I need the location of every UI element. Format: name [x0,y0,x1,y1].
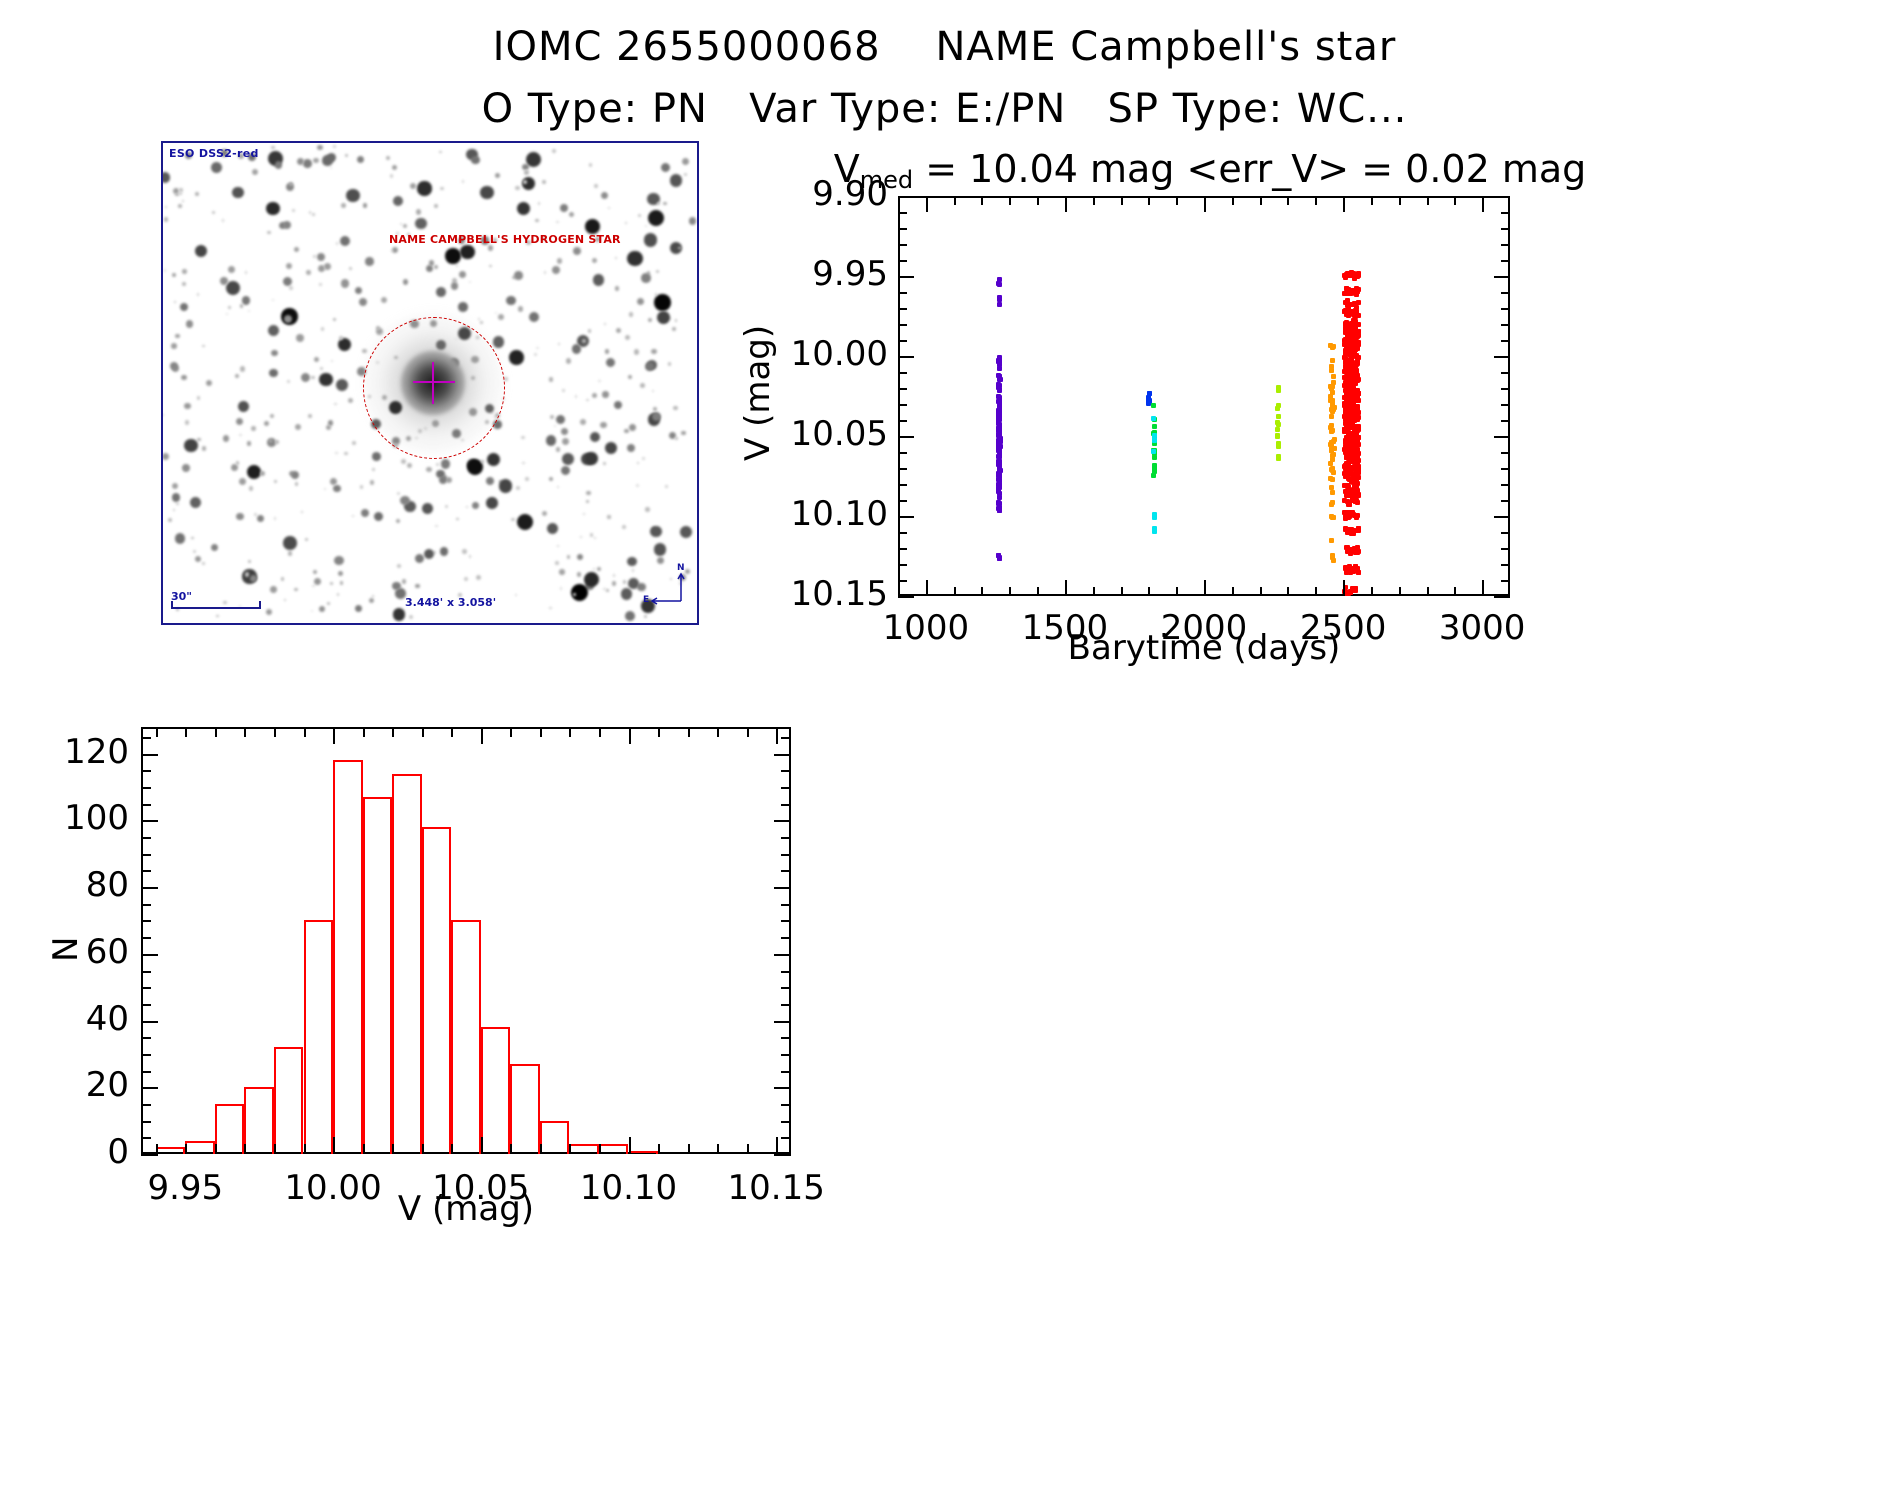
sky-star [629,424,636,431]
sky-star [206,380,212,386]
sky-star [441,459,450,468]
sky-star [226,313,228,315]
sky-star [185,420,189,424]
histogram-bar [510,1064,540,1154]
sky-star [415,584,420,589]
axis-tick [658,727,660,737]
axis-tick [781,870,791,872]
compass-rose-icon: N E [645,567,689,611]
sky-star [164,269,166,271]
sky-star [266,202,280,216]
sky-star [644,233,658,247]
sky-star [572,344,582,354]
sky-star [621,588,633,600]
axis-tick [1287,196,1289,205]
axis-tick [141,1037,151,1039]
sky-star [190,497,201,508]
sky-star [424,549,434,559]
axis-tick [141,1104,151,1106]
sky-star [552,149,556,153]
scatter-point [1330,390,1335,395]
sky-star [603,462,606,465]
sky-star [181,375,187,381]
axis-tick [774,820,791,822]
sky-star [202,562,205,565]
sky-star [319,373,333,387]
sky-star [341,203,346,208]
histogram-bar [599,1144,629,1154]
histogram-bar [304,920,334,1154]
sky-star [335,452,338,455]
axis-tick [1065,196,1067,212]
sky-star [195,556,201,562]
sky-star [562,389,564,391]
sky-star [629,312,634,317]
sky-star [556,415,565,424]
sky-star [642,457,645,460]
sky-star [657,311,670,324]
axis-tick [898,292,907,294]
sky-star [657,557,664,564]
sky-star [628,375,632,379]
sky-star [355,605,362,612]
sky-star [590,533,593,536]
sky-star [257,515,264,522]
sky-star [514,271,522,279]
axis-tick [215,1144,217,1154]
sky-star [557,486,559,488]
sky-star [515,594,517,596]
sky-star [182,200,184,202]
axis-tick [747,1144,749,1154]
sky-star [365,257,373,265]
sky-star [228,306,231,309]
sky-star [573,247,581,255]
scatter-point [1152,433,1157,438]
sky-star [345,154,347,156]
sky-star [306,270,311,275]
field-of-view-label: 3.448' x 3.058' [405,596,496,609]
scatter-point [1276,414,1281,419]
axis-tick [898,564,907,566]
sky-star [308,414,312,418]
sky-star [586,500,589,503]
scatter-point [1343,466,1348,471]
sky-star [684,173,687,176]
sky-star [401,459,406,464]
sky-star [338,571,343,576]
sky-star [462,180,465,183]
sky-star [625,611,635,621]
sky-star [340,581,344,585]
sky-star [402,579,407,584]
axis-tick [774,1021,791,1023]
sky-star [239,434,242,437]
scatter-point [1330,468,1335,473]
magnitude-histogram-plot[interactable]: 9.9510.0010.0510.1010.15 020406080100120… [141,727,791,1154]
axis-tick [781,737,791,739]
axis-tick [215,727,217,737]
sky-star [625,222,627,224]
axis-tick [781,854,791,856]
scale-bar-label: 30" [171,590,192,603]
sky-star [606,358,615,367]
sky-star [284,315,292,323]
scatter-point [1276,422,1281,427]
scatter-point [1331,558,1336,563]
axis-tick [898,468,907,470]
sky-star [327,602,331,606]
axis-tick [185,727,187,737]
sky-star [506,296,515,305]
scatter-point [1343,380,1348,385]
sky-star [434,204,438,208]
target-crosshair-horizontal [413,381,455,383]
sky-star [417,181,431,195]
axis-tick [363,1144,365,1154]
sky-star [197,396,200,399]
sky-star [682,158,689,165]
sky-star [681,431,686,436]
sky-star [309,211,311,213]
axis-tick [688,1144,690,1154]
scatter-point [1355,500,1360,505]
axis-tick [781,1137,791,1139]
sky-star [534,353,537,356]
scatter-point [1343,514,1348,519]
sky-star [287,380,290,383]
sky-star [436,470,444,478]
sky-star [588,329,592,333]
axis-tick [1501,484,1510,486]
axis-tick [1371,196,1373,205]
sky-star [348,398,353,403]
sky-star [571,584,588,601]
axis-tick [898,500,907,502]
sky-star [615,257,617,259]
sky-star [645,507,649,511]
axis-tick [1501,452,1510,454]
sky-star [320,367,324,371]
sky-star [392,582,400,590]
sky-star [415,218,427,230]
axis-tick [141,870,151,872]
sky-star [529,312,539,322]
axis-tick [141,804,151,806]
scatter-point [1348,344,1353,349]
sky-star [655,293,658,296]
axis-tick [1501,468,1510,470]
sky-star [274,480,276,482]
sky-star [336,242,339,245]
scatter-point [1354,439,1359,444]
axis-tick [244,727,246,737]
sky-star [598,380,601,383]
sky-star [486,477,494,485]
sky-star [275,161,283,169]
scatter-point [1343,439,1348,444]
sky-star [577,554,584,561]
axis-tick [898,356,914,358]
sky-star [654,543,666,555]
sky-star [333,145,336,148]
scatter-point [1354,390,1359,395]
sky-star [297,158,304,165]
sky-star [268,325,280,337]
sky-star [648,318,652,322]
axis-tick [1501,500,1510,502]
axis-tick [244,1144,246,1154]
sky-star [337,593,339,595]
sky-star [495,173,500,178]
axis-tick [156,1144,158,1154]
histogram-bar [392,774,422,1154]
histogram-bar [156,1147,186,1154]
sky-star [274,517,276,519]
sky-star [247,441,252,446]
histogram-bar [244,1087,274,1154]
sky-star [172,493,181,502]
scatter-point [1330,453,1335,458]
sky-star [638,214,641,217]
sky-star [481,460,484,463]
sky-star [314,578,321,585]
axis-tick [898,276,914,278]
scatter-point [1147,391,1152,396]
axis-tick [569,727,571,737]
header-line-1: IOMC 2655000068 NAME Campbell's star [0,16,1889,78]
sky-star [538,202,540,204]
sky-star [179,192,182,195]
scatter-point [997,282,1002,287]
sky-star [634,349,640,355]
sky-star [573,593,576,596]
scatter-point [1353,586,1358,591]
axis-tick [776,727,778,744]
sky-star [182,464,190,472]
axis-tick [954,587,956,596]
sky-star [319,606,325,612]
sky-star [336,379,348,391]
axis-tick [481,1137,483,1154]
axis-tick [141,1154,158,1156]
sky-star [586,491,590,495]
sky-star [397,564,401,568]
axis-tick [981,196,983,205]
sky-star [590,432,600,442]
sky-star [478,318,480,320]
axis-tick [363,727,365,737]
axis-tick [1260,587,1262,596]
axis-tick [1037,587,1039,596]
sky-star [456,518,459,521]
axis-tick [898,452,907,454]
axis-tick [898,516,914,518]
axis-tick [1148,196,1150,205]
sky-star [544,271,546,273]
sky-star [466,506,468,508]
sky-star [627,444,635,452]
sky-star [284,599,286,601]
sky-star [235,374,239,378]
sky-star [585,452,598,465]
sky-star [303,159,312,168]
sky-star [499,479,512,492]
sky-star [330,478,337,485]
axis-tick [898,404,907,406]
sky-star [558,343,560,345]
scatter-point [1353,460,1358,465]
axis-tick [141,937,151,939]
sky-star [657,202,660,205]
sky-star [584,572,599,587]
sky-star [567,555,571,559]
sky-star [270,586,277,593]
sky-star [601,192,608,199]
scatter-point [1152,529,1157,534]
scatter-point [1276,388,1281,393]
axis-tick [774,887,791,889]
scatter-point [1348,362,1353,367]
sky-star [317,145,322,150]
sky-star [426,467,432,473]
sky-star [525,477,529,481]
sky-star [211,162,222,173]
sky-star [184,439,197,452]
scatter-point [1331,374,1336,379]
sky-star [593,274,605,286]
sky-star [346,189,359,202]
histogram-bar [569,1144,599,1154]
target-crosshair-vertical [432,362,434,404]
sky-star [641,273,651,283]
scatter-point [1355,289,1360,294]
axis-tick [898,548,907,550]
sky-star [439,151,442,154]
axis-tick [141,904,151,906]
sky-star [416,209,422,215]
y-tick-label: 9.95 [760,254,888,294]
axis-tick [304,727,306,737]
axis-tick [1501,388,1510,390]
scatter-point [997,366,1002,371]
sky-star [555,561,559,565]
sky-star [400,496,409,505]
sky-star [557,545,559,547]
sky-star [360,485,364,489]
axis-tick [451,1144,453,1154]
scatter-point [996,473,1001,478]
sky-star [549,377,553,381]
sky-star [524,170,529,175]
scatter-point [1330,490,1335,495]
scatter-point [1343,340,1348,345]
axis-tick [1501,420,1510,422]
scatter-point [1352,546,1357,551]
sky-star [644,615,647,618]
sky-star [486,497,498,509]
sky-star [240,304,244,308]
scatter-point [1330,409,1335,414]
histogram-bar [422,827,452,1154]
sky-star [197,438,200,441]
axis-tick [1454,196,1456,205]
sky-star [569,212,574,217]
y-tick-label: 20 [31,1065,129,1105]
axis-tick [333,727,335,744]
sky-star [645,225,648,228]
lightcurve-scatter-plot[interactable]: 10001500200025003000 9.909.9510.0010.051… [898,196,1510,596]
sky-star [245,572,250,577]
sky-star [415,554,424,563]
axis-tick [658,1144,660,1154]
sky-star [164,217,168,221]
sky-star [557,258,563,264]
sky-star [471,156,480,165]
sky-star [289,182,293,186]
sky-star [202,446,206,450]
sky-star [536,347,538,349]
sky-star [535,219,538,222]
sky-star [559,569,564,574]
scatter-point [996,506,1001,511]
axis-tick [781,1037,791,1039]
axis-tick [1093,587,1095,596]
sky-star [436,287,446,297]
scatter-point [1151,416,1156,421]
axis-tick [540,727,542,737]
axis-tick [1494,516,1510,518]
axis-tick [141,1121,151,1123]
sky-star [517,514,533,530]
sky-star [245,271,247,273]
sky-star [487,453,500,466]
sky-star [552,266,560,274]
scatter-point [1354,361,1359,366]
sky-star [326,425,331,430]
scatter-point [996,500,1001,505]
sky-star [652,412,661,421]
scatter-point [997,465,1002,470]
sky-star [480,186,493,199]
sky-star [648,210,664,226]
sky-star [542,180,547,185]
sky-star [334,556,343,565]
axis-tick [926,580,928,596]
sky-star [292,209,296,213]
axis-tick [717,1144,719,1154]
scatter-point [1348,550,1353,555]
sky-star [311,376,314,379]
axis-tick [599,727,601,737]
sky-star [172,483,178,489]
sky-image-panel[interactable]: ESO DSS2-red NAME CAMPBELL'S HYDROGEN ST… [161,141,699,625]
sky-star [580,536,582,538]
y-tick-label: 100 [31,798,129,838]
sky-star [580,419,586,425]
axis-tick [141,1137,151,1139]
sky-star [294,588,297,591]
sky-star [675,437,678,440]
scatter-point [1350,401,1355,406]
axis-tick [629,1137,631,1154]
axis-tick [141,987,151,989]
scatter-point [1330,398,1335,403]
scatter-point [1151,403,1156,408]
scatter-point [1350,302,1355,307]
scatter-point [1351,326,1356,331]
scatter-point [1343,489,1348,494]
